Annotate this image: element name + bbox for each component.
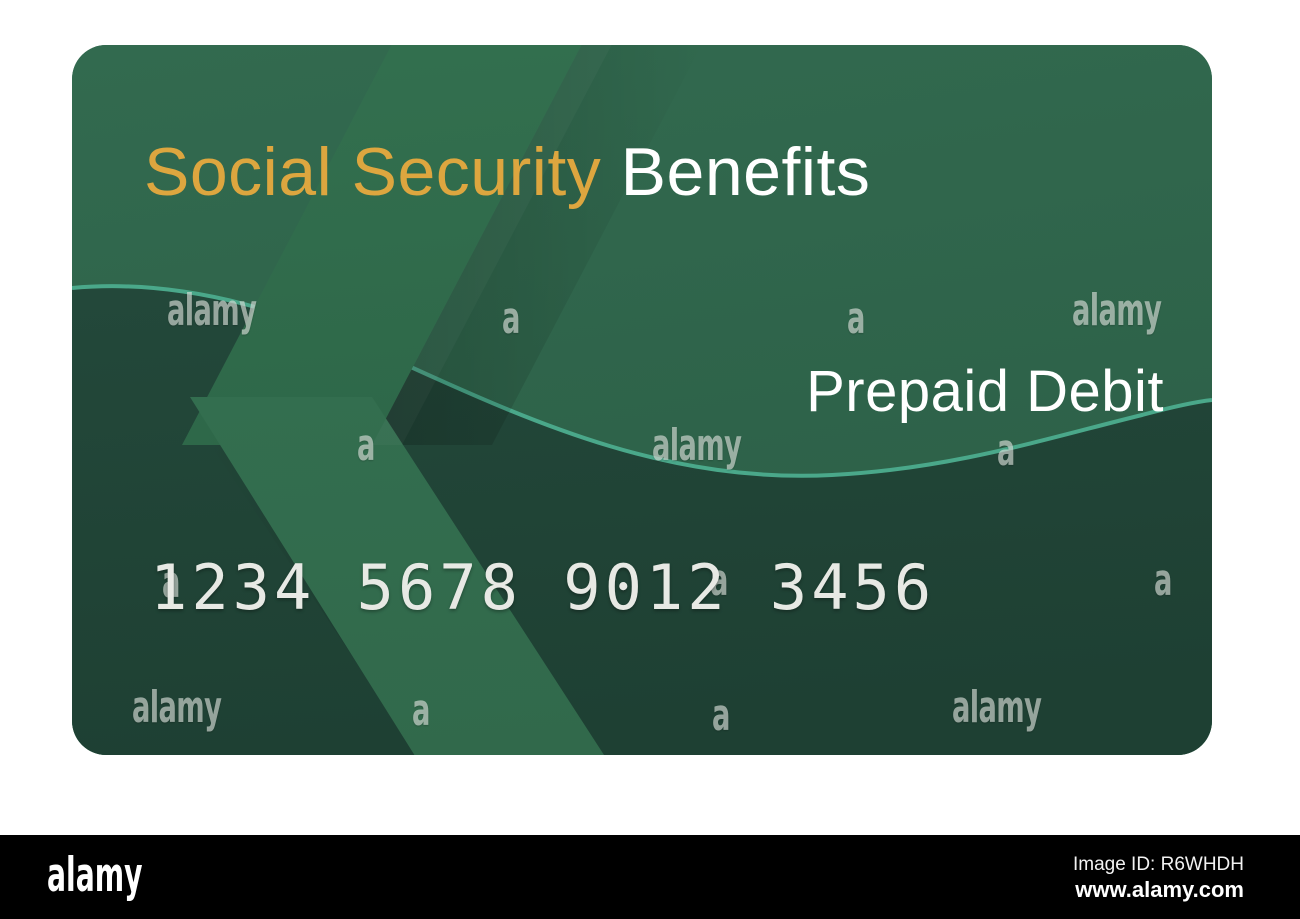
alamy-footer-bar: alamy Image ID: R6WHDH www.alamy.com bbox=[0, 835, 1300, 919]
image-id-label: Image ID: R6WHDH bbox=[1073, 853, 1244, 877]
card-face: alamyaaalamyaalamyaaaaalamyaaalamy Socia… bbox=[72, 45, 1212, 755]
prepaid-debit-card: alamyaaalamyaalamyaaaaalamyaaalamy Socia… bbox=[72, 45, 1212, 755]
card-artwork bbox=[72, 45, 1212, 755]
footer-meta: Image ID: R6WHDH www.alamy.com bbox=[1073, 853, 1244, 903]
alamy-logo[interactable]: alamy bbox=[47, 852, 142, 899]
alamy-url-label[interactable]: www.alamy.com bbox=[1073, 877, 1244, 903]
screenshot-canvas: alamyaaalamyaalamyaaaaalamyaaalamy Socia… bbox=[0, 0, 1300, 919]
